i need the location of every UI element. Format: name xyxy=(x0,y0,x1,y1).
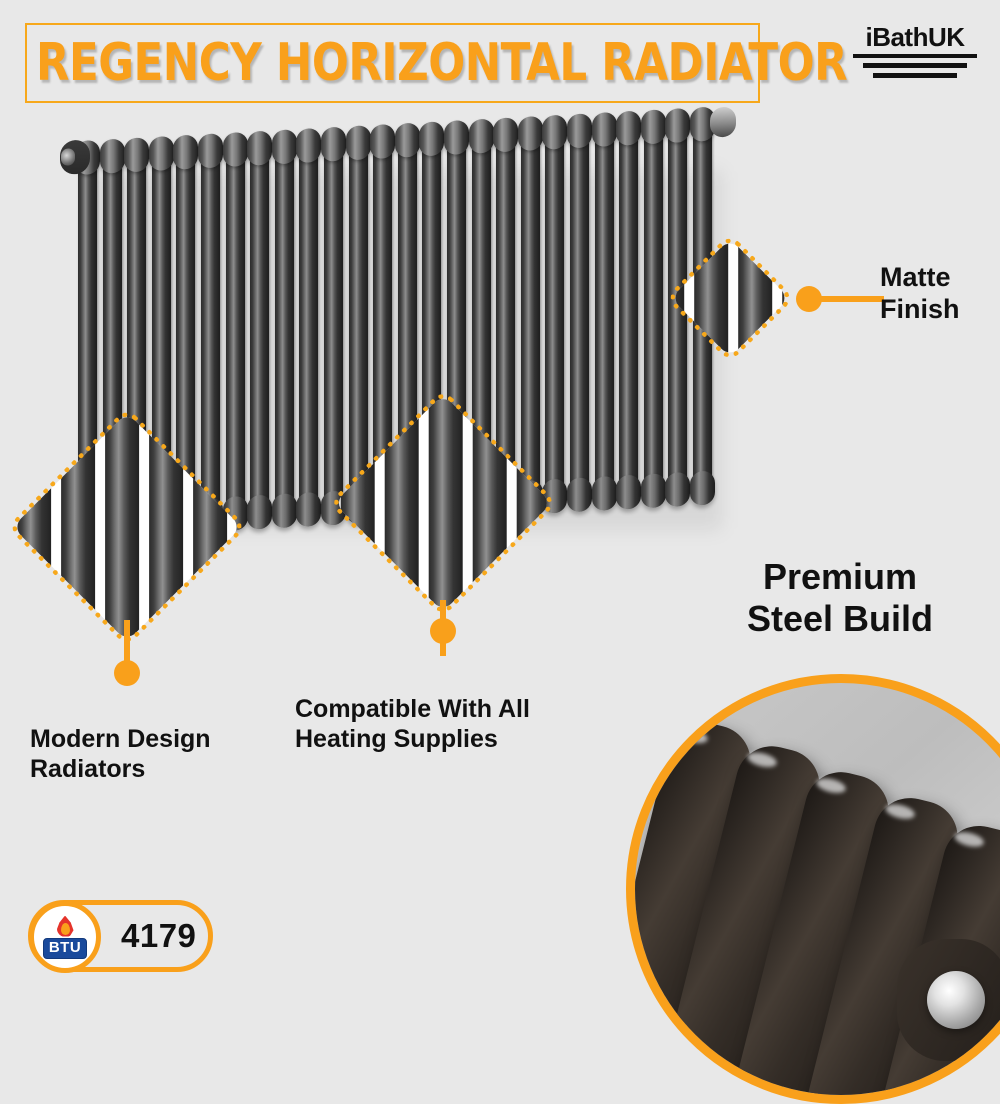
radiator-column xyxy=(275,138,294,519)
detail-closeup-circle xyxy=(626,674,1000,1104)
page-title: REGENCY HORIZONTAL RADIATOR xyxy=(36,26,702,100)
lead-line-matte xyxy=(812,296,884,302)
feature-label-modern-design: Modern Design Radiators xyxy=(30,725,300,784)
lead-dot-modern xyxy=(114,660,140,686)
radiator-column xyxy=(226,141,245,522)
flame-icon xyxy=(57,916,74,937)
detail-column-highlight xyxy=(884,802,916,822)
lead-dot-matte xyxy=(796,286,822,312)
compatible-line-1: Compatible With All xyxy=(295,695,595,725)
modern-design-line-2: Radiators xyxy=(30,755,300,785)
feature-label-compatible: Compatible With All Heating Supplies xyxy=(295,695,595,754)
brand-rule-2 xyxy=(863,63,967,68)
btu-badge: BTU 4179 xyxy=(28,900,213,972)
radiator-column xyxy=(619,120,638,501)
infographic-canvas: REGENCY HORIZONTAL RADIATOR iBathUK Matt… xyxy=(0,0,1000,1000)
radiator-column xyxy=(324,136,343,517)
compatible-line-2: Heating Supplies xyxy=(295,725,595,755)
callout-matte-finish xyxy=(684,252,776,344)
radiator-column xyxy=(250,140,269,521)
btu-icon: BTU xyxy=(29,901,101,973)
callout-compatible-supplies xyxy=(362,422,524,584)
radiator-column xyxy=(545,124,564,505)
matte-finish-line-1: Matte xyxy=(880,262,1000,294)
detail-column-highlight xyxy=(815,776,847,796)
callout-matte-finish-outline xyxy=(665,233,795,363)
callout-compatible-outline xyxy=(328,388,557,617)
chrome-bleed-valve-icon xyxy=(927,971,985,1029)
premium-line-1: Premium xyxy=(690,556,990,598)
callout-modern-design-outline xyxy=(7,407,247,647)
brand-rule-3 xyxy=(873,73,957,78)
btu-unit-label: BTU xyxy=(43,938,87,959)
top-right-valve-icon xyxy=(710,106,736,137)
brand-logo: iBathUK xyxy=(850,22,980,84)
brand-name: iBathUK xyxy=(850,22,980,52)
radiator-column xyxy=(570,122,589,503)
detail-column-highlight xyxy=(746,750,778,770)
detail-closeup-scene xyxy=(635,683,1000,1095)
detail-column-highlight xyxy=(953,829,985,849)
radiator-column xyxy=(299,137,318,518)
matte-finish-line-2: Finish xyxy=(880,294,1000,326)
radiator-column xyxy=(644,118,663,499)
lead-dot-compatible xyxy=(430,618,456,644)
brand-rule-1 xyxy=(853,54,977,58)
btu-value: 4179 xyxy=(121,917,196,955)
feature-label-premium-steel: Premium Steel Build xyxy=(690,556,990,641)
flame-inner xyxy=(61,923,70,935)
radiator-column xyxy=(595,121,614,502)
feature-label-matte-finish: Matte Finish xyxy=(880,262,1000,326)
detail-column-highlight xyxy=(677,726,709,746)
premium-line-2: Steel Build xyxy=(690,598,990,640)
callout-modern-design xyxy=(42,442,212,612)
modern-design-line-1: Modern Design xyxy=(30,725,300,755)
